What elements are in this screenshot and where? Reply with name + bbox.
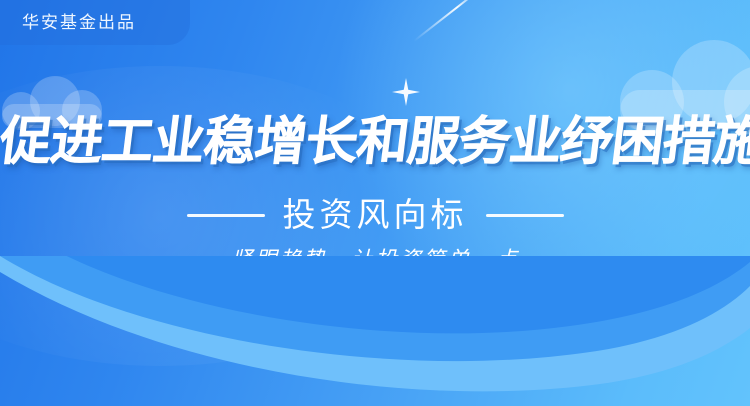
sparkle-star-icon — [392, 78, 420, 106]
rule-left — [187, 214, 265, 217]
promo-banner: 华安基金出品 促进工业稳增长和服务业纾困措施 投资风向标 紧跟趋势，让投资简单一… — [0, 0, 750, 406]
wave-divider — [0, 256, 750, 406]
brand-badge-label: 华安基金出品 — [22, 14, 136, 31]
headline-title: 促进工业稳增长和服务业纾困措施 — [0, 112, 750, 172]
brand-badge: 华安基金出品 — [0, 0, 190, 45]
subtitle-label: 投资风向标 — [283, 196, 468, 234]
rule-right — [486, 214, 564, 217]
sparkle-decoration-group — [392, 34, 512, 114]
subtitle-row: 投资风向标 — [0, 196, 750, 234]
